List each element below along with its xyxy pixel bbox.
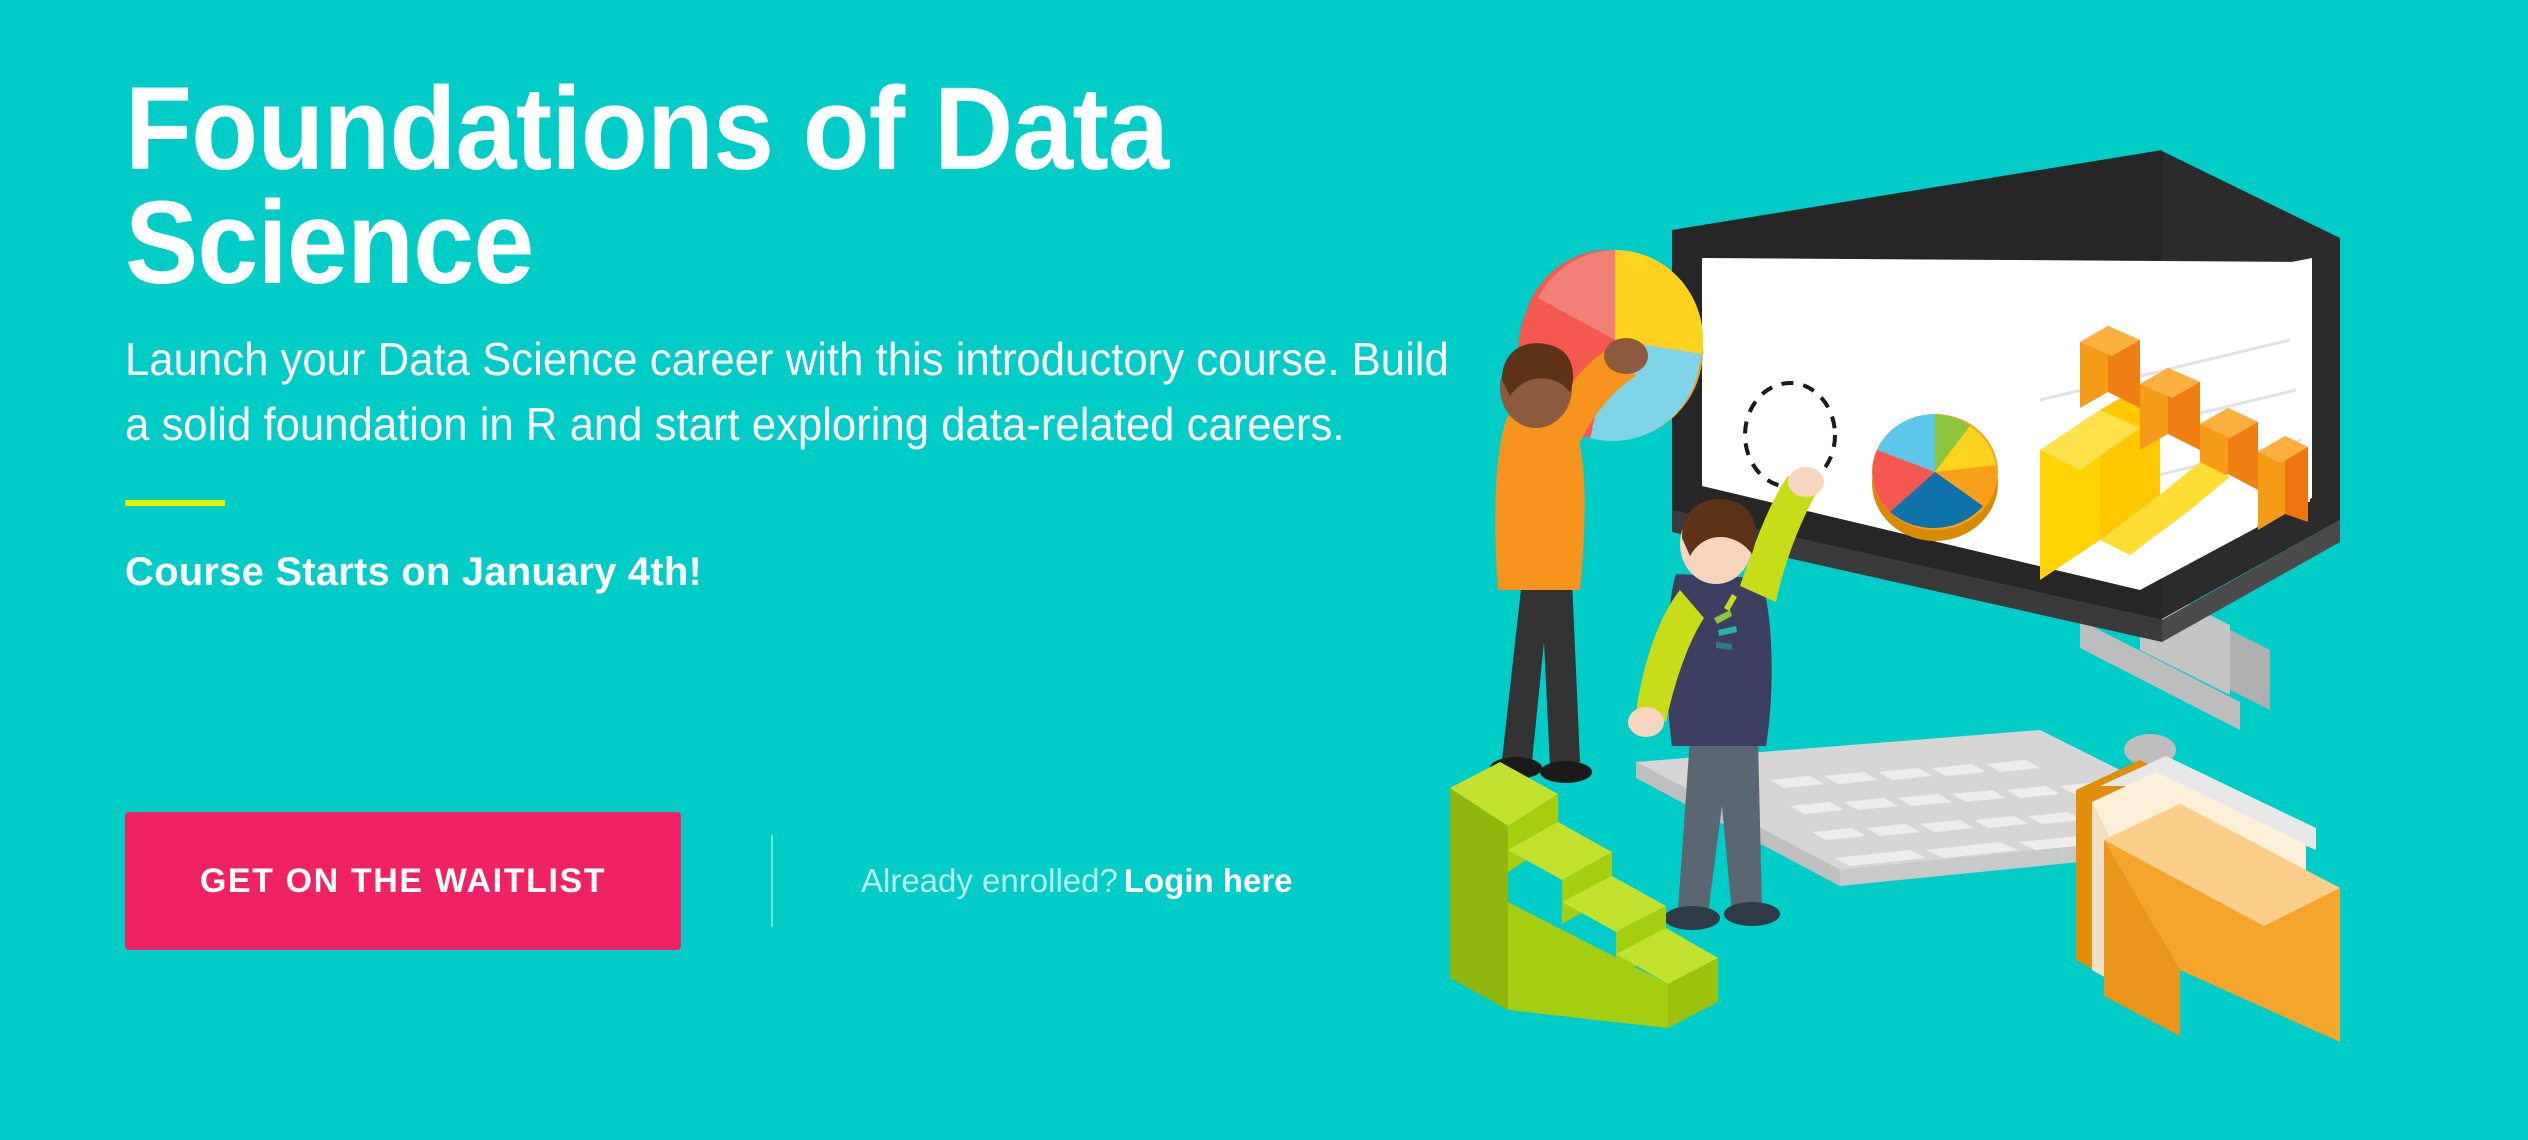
orange-document-folder bbox=[2076, 756, 2340, 1042]
green-staircase bbox=[1450, 762, 1718, 1028]
accent-divider bbox=[125, 500, 225, 506]
hero-copy-block: Foundations of Data Science Launch your … bbox=[125, 72, 1545, 595]
login-prompt: Already enrolled?Login here bbox=[861, 862, 1293, 900]
enrolled-prompt-label: Already enrolled? bbox=[861, 862, 1118, 899]
cta-vertical-divider bbox=[771, 835, 773, 927]
data-science-illustration bbox=[1440, 150, 2390, 1050]
cta-row: GET ON THE WAITLIST Already enrolled?Log… bbox=[125, 812, 1293, 950]
page-title: Foundations of Data Science bbox=[125, 72, 1334, 301]
get-on-the-waitlist-button[interactable]: GET ON THE WAITLIST bbox=[125, 812, 681, 950]
pie-chart-3d-on-screen bbox=[1872, 414, 1998, 541]
hero-description: Launch your Data Science career with thi… bbox=[125, 327, 1455, 458]
hero-banner: Foundations of Data Science Launch your … bbox=[0, 0, 2528, 1140]
course-start-date: Course Starts on January 4th! bbox=[125, 550, 1545, 595]
login-here-link[interactable]: Login here bbox=[1124, 862, 1293, 899]
isometric-scene-svg bbox=[1440, 150, 2390, 1050]
